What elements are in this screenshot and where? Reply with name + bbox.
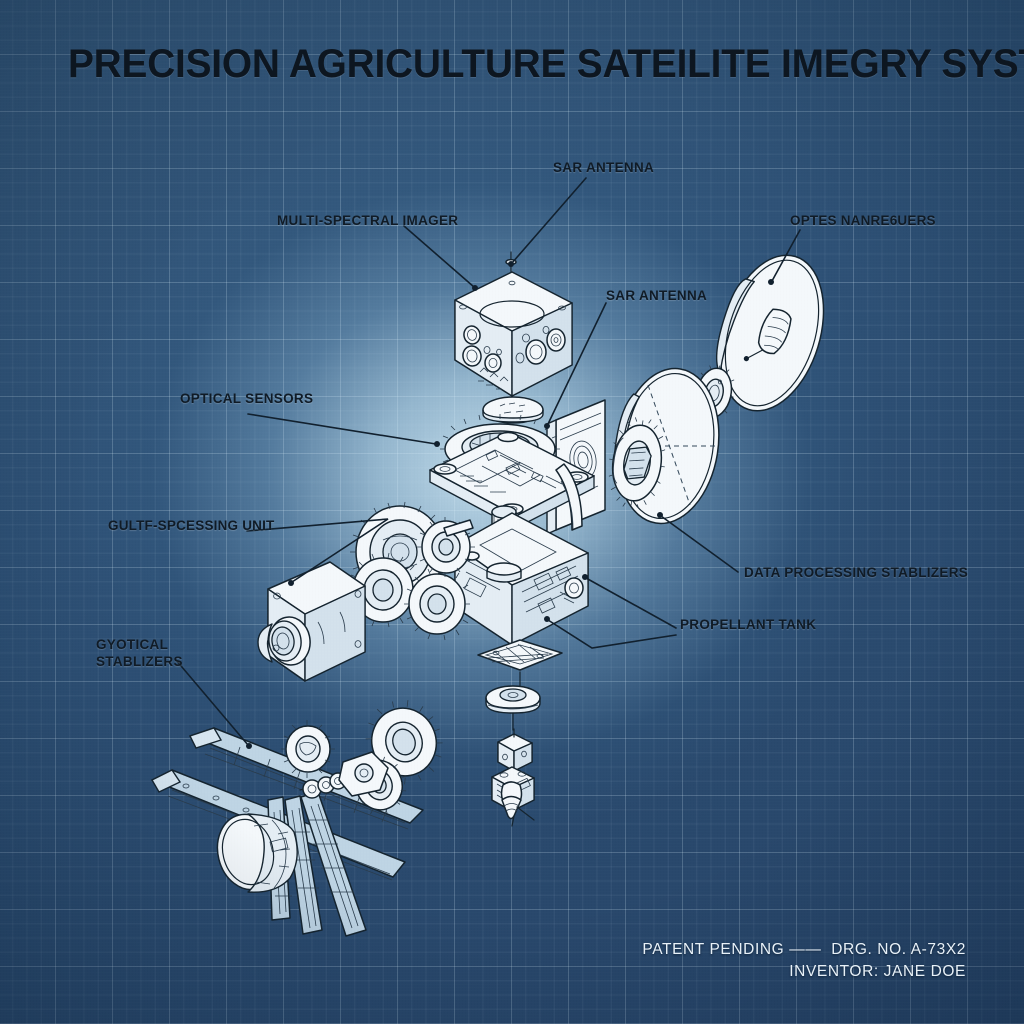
leader-data-processing-stablizers: [657, 512, 738, 572]
leader-optes-nanre6uers: [768, 230, 800, 285]
callout-label-multi-spectral-imager: MULTI-SPECTRAL IMAGER: [277, 212, 458, 229]
callout-label-sar-antenna-mid: SAR ANTENNA: [606, 287, 707, 304]
leader-sar-antenna-mid: [544, 303, 606, 429]
leader-optical-sensors: [248, 414, 440, 447]
blueprint-canvas: PRECISION AGRICULTURE SATEILITE IMEGRY S…: [0, 0, 1024, 1024]
callout-label-data-processing-stablizers: DATA PROCESSING STABLIZERS: [744, 564, 968, 581]
leader-multi-spectral-imager: [404, 226, 478, 291]
callout-label-propellant-tank: PROPELLANT TANK: [680, 616, 816, 633]
callout-label-sar-antenna-top: SAR ANTENNA: [553, 159, 654, 176]
leader-propellant-tank: [582, 574, 676, 628]
footer-patent-line: PATENT PENDING —— DRG. NO. A-73X2: [642, 941, 966, 959]
leader-gyotical-stablizers: [176, 660, 252, 749]
page-title: PRECISION AGRICULTURE SATEILITE IMEGRY S…: [68, 42, 1024, 87]
callout-label-optical-sensors: OPTICAL SENSORS: [180, 390, 313, 407]
callout-leader-lines: [0, 0, 1024, 1024]
leader-sar-antenna-top: [508, 178, 586, 267]
callout-label-gyotical-stablizers: GYOTICAL STABLIZERS: [96, 636, 183, 671]
leader-propellant-tank-secondary: [544, 616, 676, 648]
callout-label-gultf-spcessing-unit: GULTF-SPCESSING UNIT: [108, 517, 275, 534]
footer-inventor-line: INVENTOR: JANE DOE: [789, 963, 966, 981]
callout-label-optes-nanre6uers: OPTES NANRE6UERS: [790, 212, 936, 229]
